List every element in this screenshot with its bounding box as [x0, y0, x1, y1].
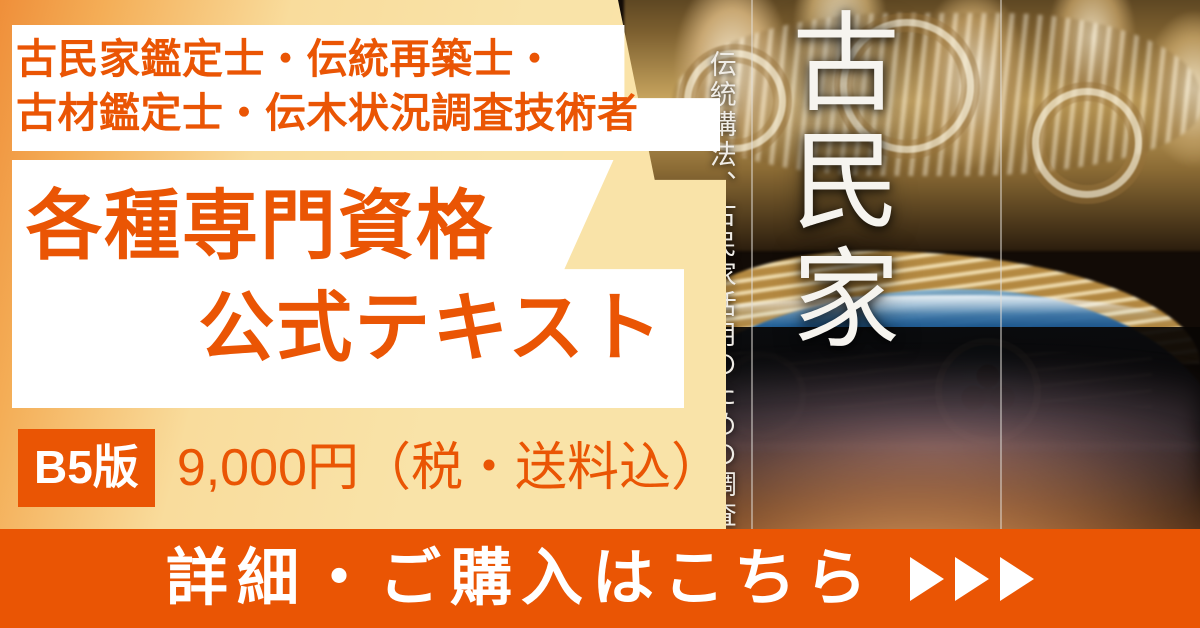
qualifications-text: 古民家鑑定士・伝統再築士・ 古材鑑定士・伝木状況調査技術者 — [16, 32, 716, 140]
promo-banner: 古民家 伝統構法、古民家活用のための調査と再生の 古民家鑑定士・伝統再築士・ 古… — [0, 0, 1200, 628]
cover-title: 古民家 — [774, 6, 895, 360]
format-badge: B5版 — [18, 429, 155, 507]
triangle-right-icon — [1000, 557, 1034, 601]
price-row: B5版 9,000円（税・送料込） — [18, 428, 723, 508]
price-amount: 9,000円（税・送料込） — [177, 442, 723, 494]
cta-arrows — [910, 557, 1034, 601]
triangle-right-icon — [955, 557, 989, 601]
headline-line-2: 公式テキスト — [18, 278, 678, 380]
headline-text: 各種専門資格 公式テキスト — [18, 176, 678, 380]
carved-swirl-icon — [1032, 88, 1142, 198]
cta-label: 詳細・ご購入はこちら — [166, 548, 876, 610]
qualification-line-1: 古民家鑑定士・伝統再築士・ — [16, 32, 716, 86]
triangle-right-icon — [910, 557, 944, 601]
cta-bar[interactable]: 詳細・ご購入はこちら — [0, 529, 1200, 628]
qualification-line-2: 古材鑑定士・伝木状況調査技術者 — [16, 86, 716, 140]
headline-line-1: 各種専門資格 — [18, 176, 678, 278]
